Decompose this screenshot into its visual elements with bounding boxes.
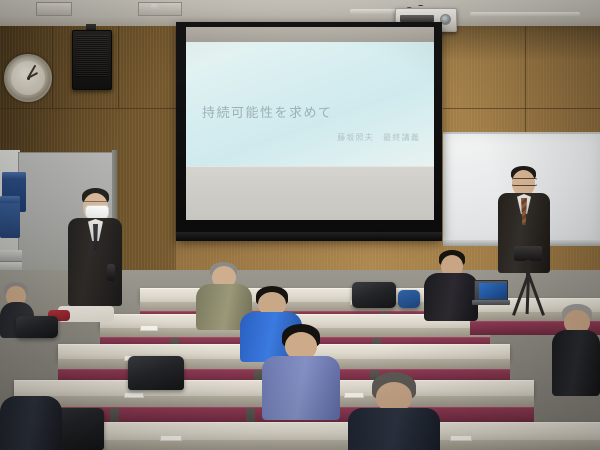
tripod-leg xyxy=(526,274,530,314)
ceiling-vent xyxy=(138,2,182,16)
glasses-icon xyxy=(511,178,538,186)
torso xyxy=(0,396,62,450)
projection-screen-surface: 持続可能性を求めて 藤坂照夫 最終講義 xyxy=(186,42,434,220)
wall-panel-seam xyxy=(525,26,526,136)
desk-bag xyxy=(128,356,184,390)
presenter-left xyxy=(66,188,124,318)
audience-member xyxy=(348,372,440,450)
speaker-grill xyxy=(76,35,108,77)
stair-step xyxy=(0,250,22,262)
clock-face xyxy=(11,61,45,95)
blue-bag xyxy=(398,290,420,308)
camera-tripod xyxy=(500,246,556,316)
projector-vent xyxy=(400,15,434,22)
wall-clock xyxy=(4,54,52,102)
ceiling-vent xyxy=(36,2,72,16)
projection-screen-unlit-band xyxy=(186,166,434,220)
handheld-microphone xyxy=(107,264,115,281)
recycling-bin xyxy=(0,196,20,238)
wall-speaker xyxy=(72,30,112,90)
wall-panel-seam xyxy=(443,108,600,109)
audience-member xyxy=(0,396,62,450)
torso xyxy=(262,356,340,420)
torso xyxy=(424,273,478,321)
projection-screen-top-bar xyxy=(186,27,434,42)
seat-number-tag xyxy=(124,392,144,398)
bin-lid xyxy=(0,196,20,203)
video-camera xyxy=(514,246,542,261)
desk-bag xyxy=(352,282,396,308)
audience-member xyxy=(424,250,478,314)
seat-number-tag xyxy=(140,325,158,331)
ceiling-sprinkler xyxy=(150,4,158,10)
desk-surface xyxy=(140,288,470,303)
desk-front-panel xyxy=(140,302,470,311)
projection-screen-bottom-trim xyxy=(176,232,442,241)
desk-bag xyxy=(16,316,58,338)
wall-panel-seam xyxy=(0,108,176,109)
seat-number-tag xyxy=(160,435,182,441)
clock-center-pin xyxy=(27,77,30,80)
seat-number-tag xyxy=(450,435,472,441)
wall-panel-seam xyxy=(118,26,119,108)
lecture-hall-photo: 持続可能性を求めて 藤坂照夫 最終講義 xyxy=(0,0,600,450)
wall-panel-seam xyxy=(52,26,53,108)
audience-member xyxy=(552,304,600,392)
ceiling-light-strip xyxy=(470,12,580,16)
slide-subtitle: 藤坂照夫 最終講義 xyxy=(337,132,420,143)
torso xyxy=(552,330,600,396)
slide-title: 持続可能性を求めて xyxy=(202,102,333,121)
audience-member xyxy=(262,324,340,414)
torso xyxy=(348,408,440,450)
bin-lid xyxy=(2,172,26,179)
